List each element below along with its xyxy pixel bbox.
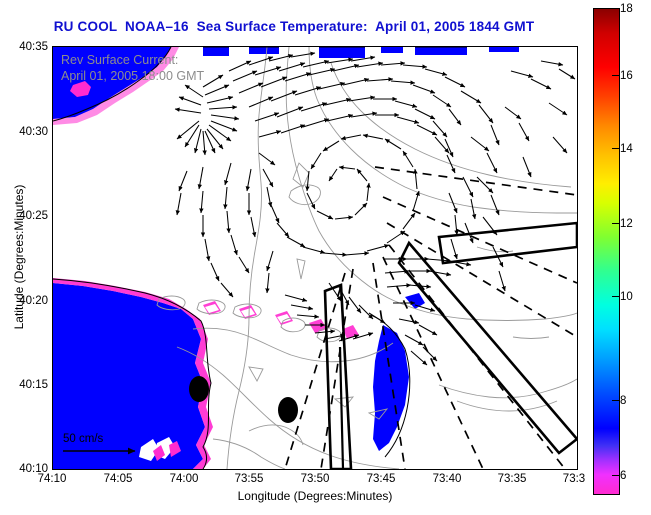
page-title: RU COOL NOAA–16 Sea Surface Temperature:… — [0, 19, 588, 34]
xtick-6: 73:40 — [433, 473, 462, 485]
cbar-tick-8: 8 — [620, 395, 626, 407]
ytick-5: 40:10 — [19, 463, 48, 475]
xtick-3: 73:55 — [235, 473, 264, 485]
cbar-tick-6: 6 — [620, 470, 626, 482]
colorbar — [593, 8, 620, 495]
cbar-tick-16: 16 — [620, 70, 633, 82]
scale-arrow-label: 50 cm/s — [63, 433, 103, 445]
cbar-tickmark-10 — [612, 296, 620, 297]
xtick-8: 73:3 — [563, 473, 585, 485]
cbar-tick-10: 10 — [620, 291, 633, 303]
cbar-tickmark-16 — [612, 75, 620, 76]
y-axis-label: Latitude (Degrees:Minutes) — [12, 147, 26, 367]
xtick-5: 73:45 — [367, 473, 396, 485]
cbar-tickmark-8 — [612, 400, 620, 401]
cbar-tick-14: 14 — [620, 143, 633, 155]
cbar-tickmark-12 — [612, 223, 620, 224]
sst-map-canvas — [53, 47, 577, 469]
cbar-tickmark-6 — [612, 475, 620, 476]
cbar-tick-18: 18 — [620, 3, 633, 15]
cbar-tick-12: 12 — [620, 218, 633, 230]
xtick-4: 73:50 — [301, 473, 330, 485]
cbar-tickmark-14 — [612, 148, 620, 149]
xtick-7: 73:35 — [498, 473, 527, 485]
cbar-tickmark-18 — [612, 8, 620, 9]
ytick-0: 40:35 — [19, 41, 48, 53]
sst-map-plot: Rev Surface Current: April 01, 2005 18:0… — [52, 46, 578, 470]
xtick-1: 74:05 — [104, 473, 133, 485]
ytick-1: 40:30 — [19, 126, 48, 138]
xtick-2: 74:00 — [170, 473, 199, 485]
ytick-4: 40:15 — [19, 379, 48, 391]
x-axis-label: Longitude (Degrees:Minutes) — [52, 489, 578, 503]
